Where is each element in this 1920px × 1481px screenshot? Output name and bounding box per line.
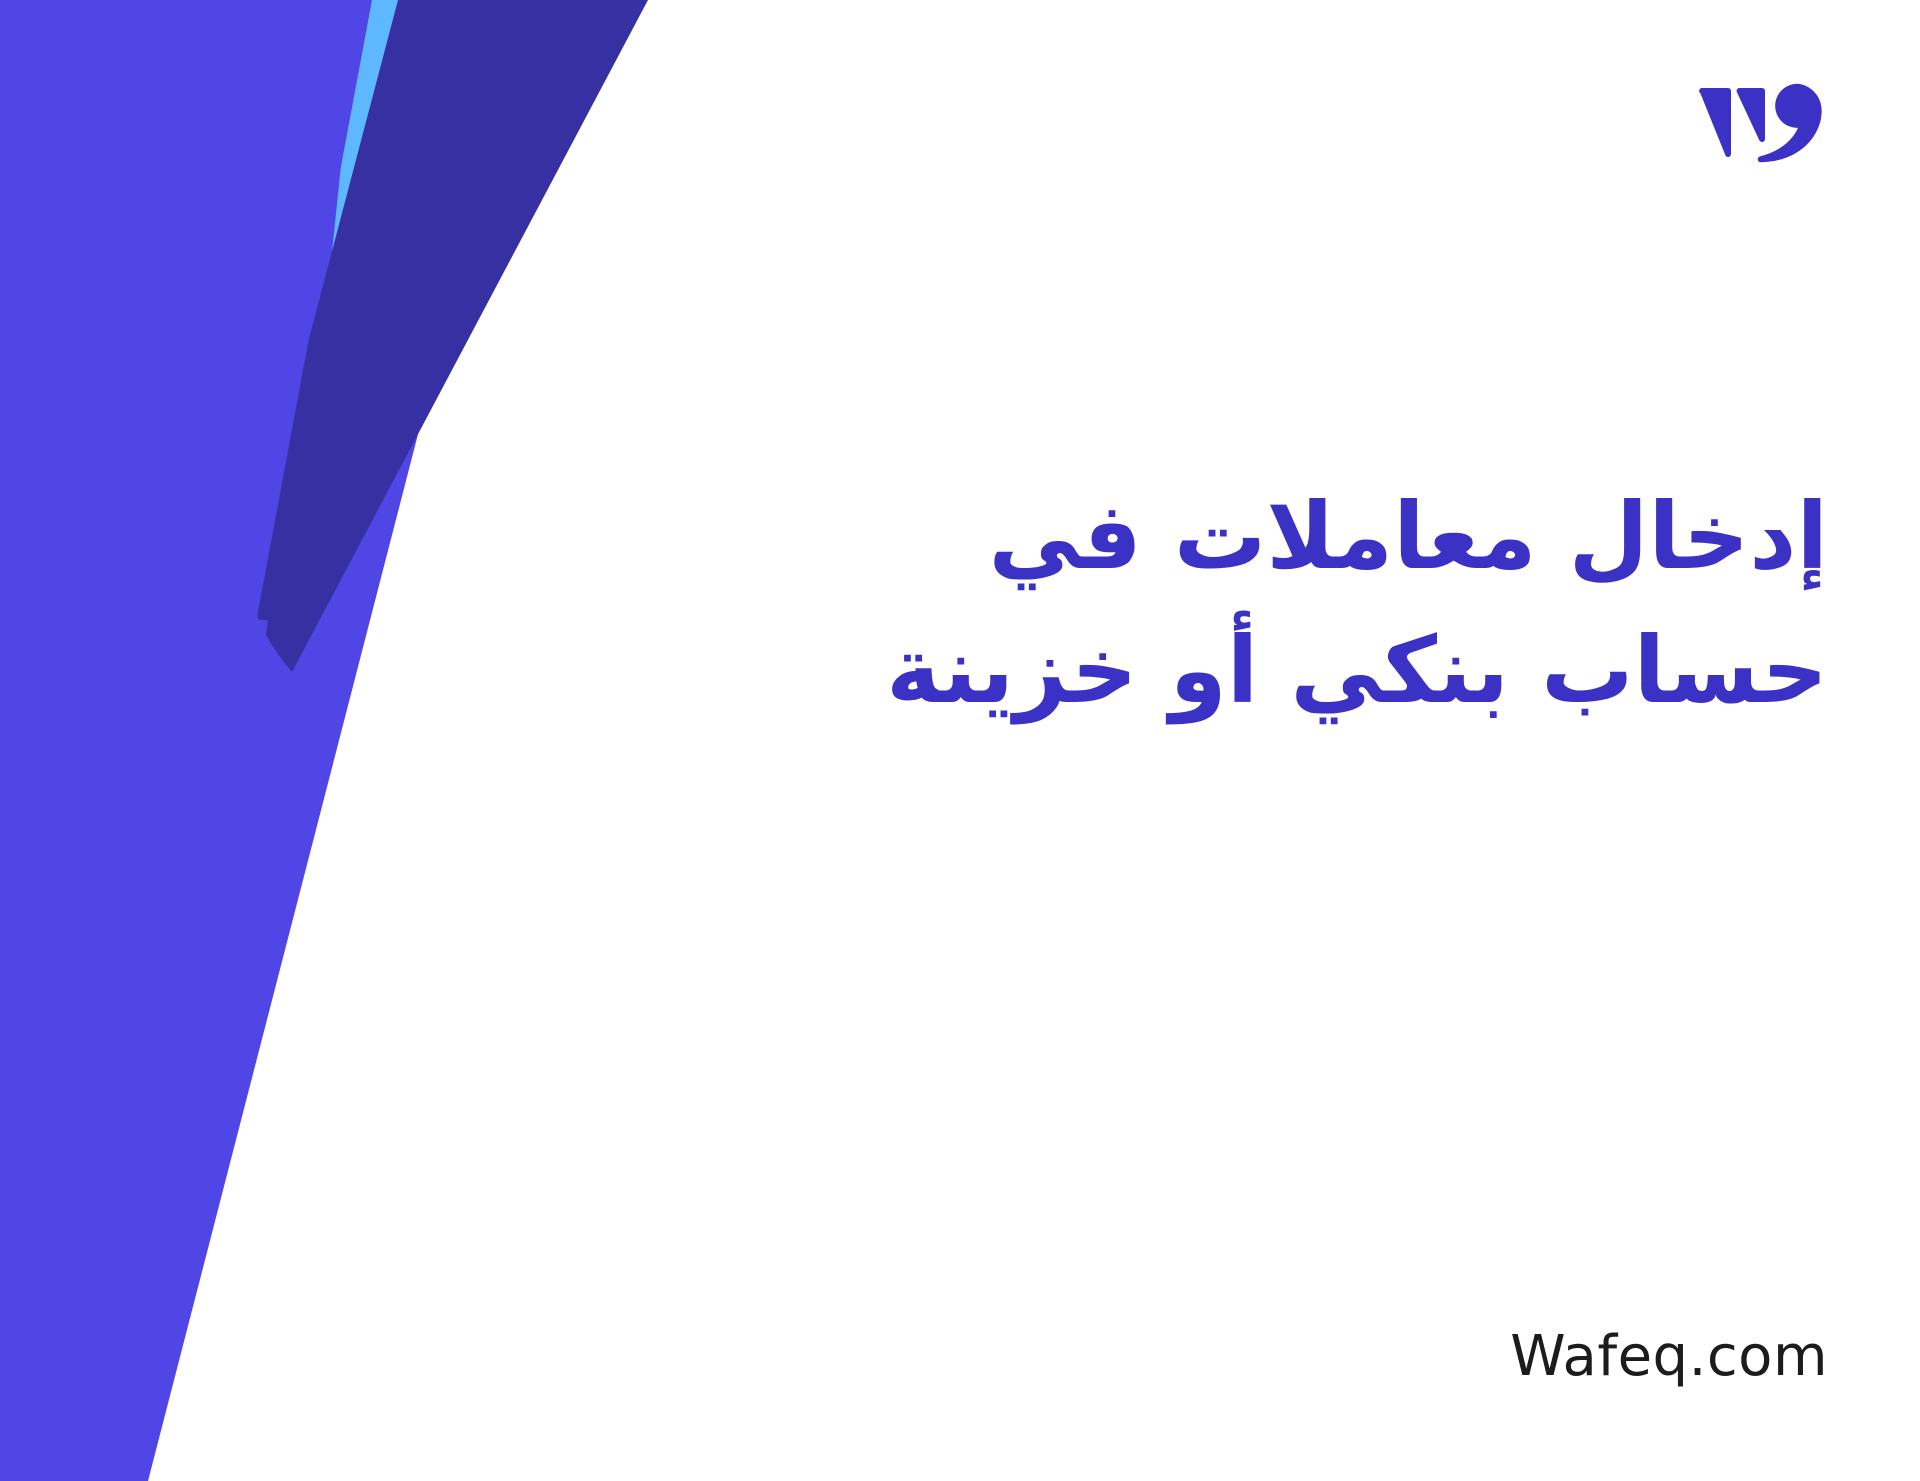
- footer: Wafeq.com: [1510, 1329, 1828, 1385]
- wafeq-logo: [1696, 62, 1828, 180]
- title-line-2: حساب بنكي أو خزينة: [908, 604, 1828, 738]
- logo-stroke-hook: [1758, 84, 1822, 162]
- decorative-artwork: [0, 0, 760, 1481]
- page-title: إدخال معاملات في حساب بنكي أو خزينة: [908, 470, 1828, 739]
- title-line-1: إدخال معاملات في: [908, 470, 1828, 604]
- logo-stroke-left: [1699, 88, 1731, 157]
- logo-stroke-middle: [1737, 88, 1765, 142]
- cover-canvas: إدخال معاملات في حساب بنكي أو خزينة Wafe…: [0, 0, 1920, 1481]
- website-url: Wafeq.com: [1510, 1329, 1828, 1385]
